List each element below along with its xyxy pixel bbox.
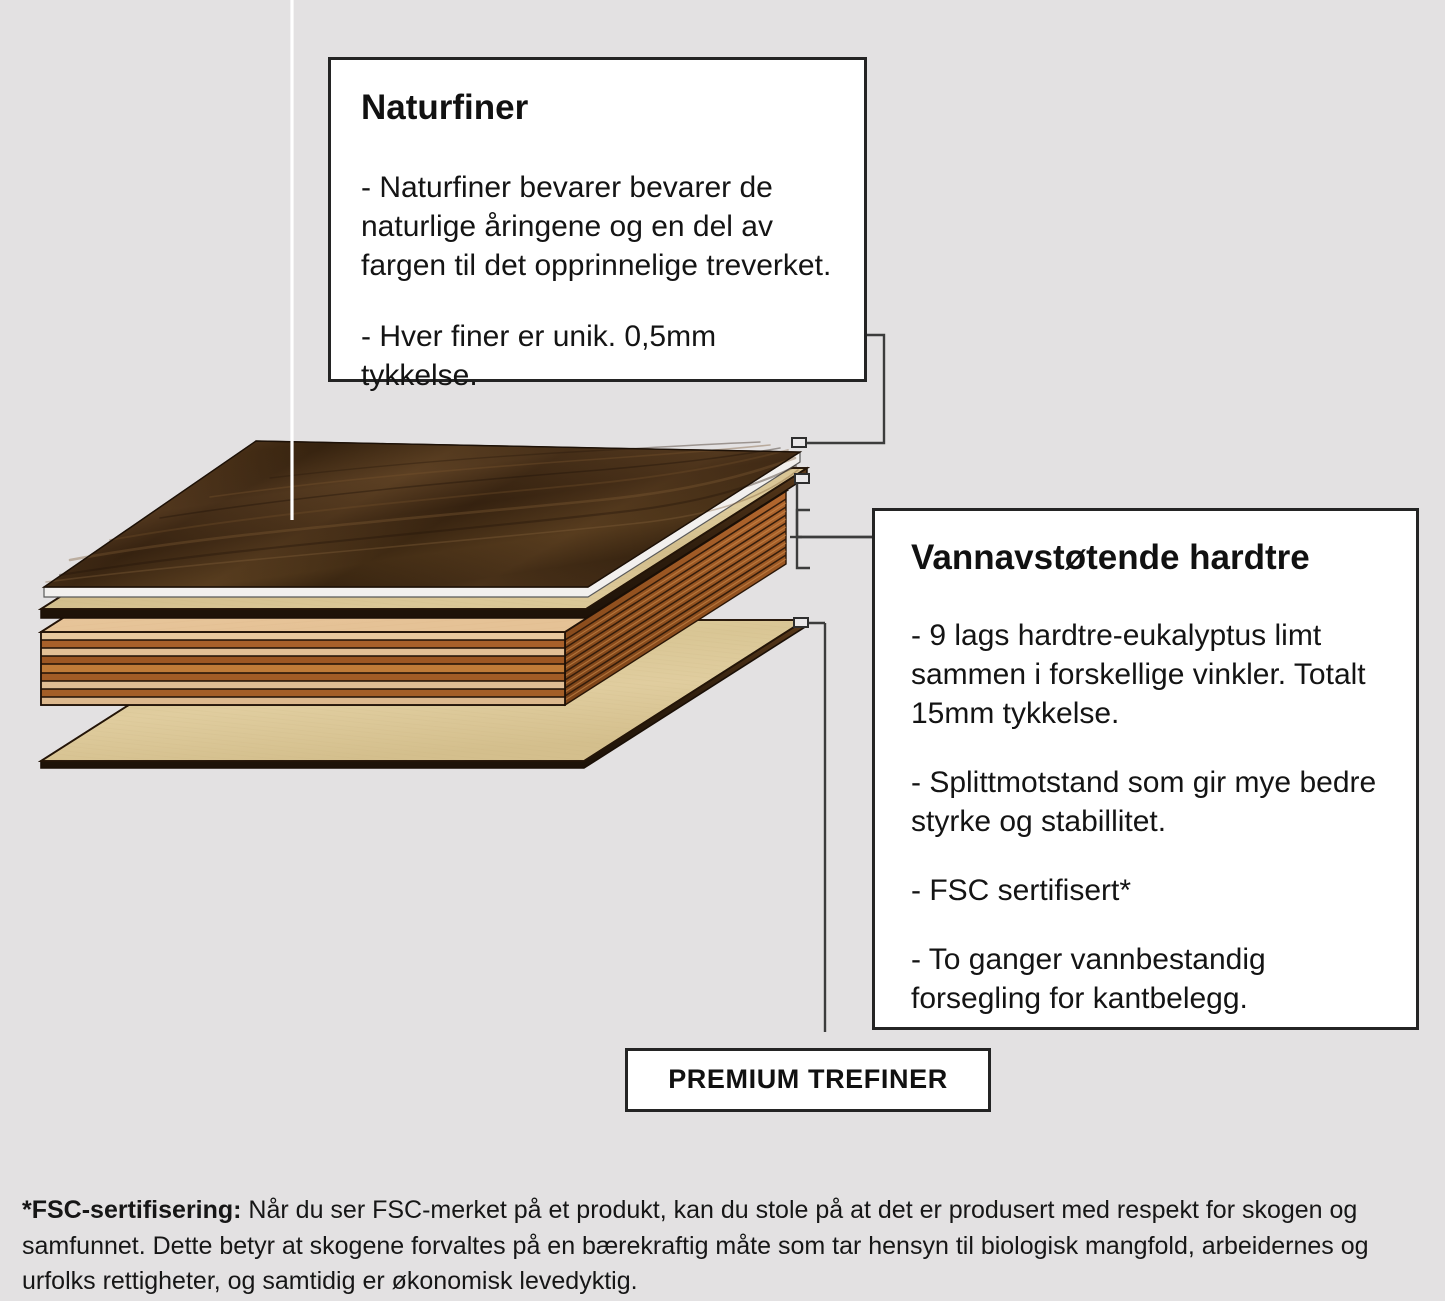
callout-hardwood-bullet-4: - To ganger vannbestandig forsegling for… — [911, 940, 1404, 1018]
callout-hardwood: Vannavstøtende hardtre - 9 lags hardtre-… — [872, 508, 1419, 1030]
arrowhead-bottom — [794, 618, 808, 627]
leader-birch — [797, 479, 872, 537]
callout-veneer: Naturfiner - Naturfiner bevarer bevarer … — [328, 57, 867, 382]
core-plies — [41, 632, 565, 705]
diagram-stage: Naturfiner - Naturfiner bevarer bevarer … — [0, 0, 1445, 1301]
callout-veneer-title: Naturfiner — [361, 88, 838, 128]
core-bracket — [797, 510, 810, 568]
callout-hardwood-bullet-3: - FSC sertifisert* — [911, 871, 1404, 910]
callout-product-title: PREMIUM TREFINER — [668, 1064, 948, 1095]
callout-product: PREMIUM TREFINER — [625, 1048, 991, 1112]
callout-veneer-bullet-1: - Naturfiner bevarer bevarer de naturlig… — [361, 168, 838, 285]
arrowhead-veneer — [792, 438, 806, 447]
footnote-label: *FSC-sertifisering: — [22, 1196, 241, 1224]
footnote: *FSC-sertifisering: Når du ser FSC-merke… — [22, 1193, 1422, 1300]
callout-veneer-bullet-2: - Hver finer er unik. 0,5mm tykkelse. — [361, 317, 838, 395]
callout-hardwood-title: Vannavstøtende hardtre — [911, 538, 1404, 578]
callout-hardwood-bullet-1: - 9 lags hardtre-eukalyptus limt sammen … — [911, 616, 1404, 733]
callout-hardwood-bullet-2: - Splittmotstand som gir mye bedre styrk… — [911, 763, 1404, 841]
arrowhead-birch — [795, 474, 809, 483]
